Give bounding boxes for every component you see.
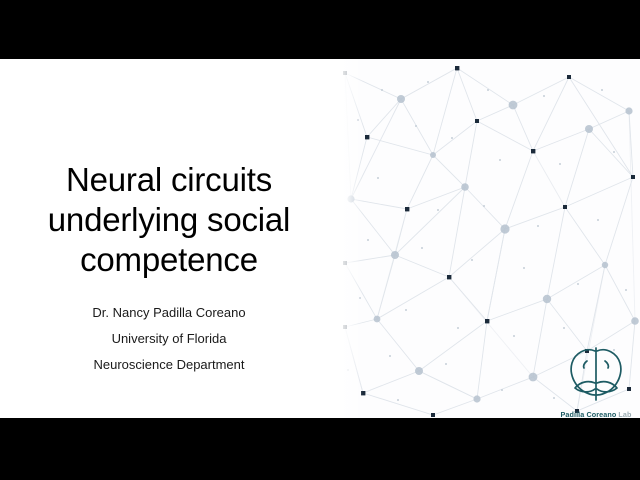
title-line-3: competence xyxy=(10,240,328,280)
letterbox-bar-bottom xyxy=(0,418,640,480)
page-title: Neural circuits underlying social compet… xyxy=(10,160,328,280)
presenter-name: Dr. Nancy Padilla Coreano xyxy=(10,300,328,326)
presenter-institution: University of Florida xyxy=(10,326,328,352)
network-left-fade xyxy=(337,59,363,418)
title-line-2: underlying social xyxy=(10,200,328,240)
presenter-department: Neuroscience Department xyxy=(10,352,328,378)
presenter-details: Dr. Nancy Padilla Coreano University of … xyxy=(10,300,328,378)
lab-logo-text: Padilla Coreano Lab xyxy=(558,410,634,418)
title-line-1: Neural circuits xyxy=(10,160,328,200)
video-player-viewport: Neural circuits underlying social compet… xyxy=(0,0,640,480)
presentation-slide: Neural circuits underlying social compet… xyxy=(0,59,640,418)
lab-logo: Padilla Coreano Lab xyxy=(558,344,634,418)
slide-text-block: Neural circuits underlying social compet… xyxy=(0,59,337,418)
lab-suffix-text: Lab xyxy=(618,410,631,418)
lab-name-text: Padilla Coreano xyxy=(560,410,616,418)
brain-leaf-icon xyxy=(566,344,626,402)
letterbox-bar-top xyxy=(0,0,640,59)
